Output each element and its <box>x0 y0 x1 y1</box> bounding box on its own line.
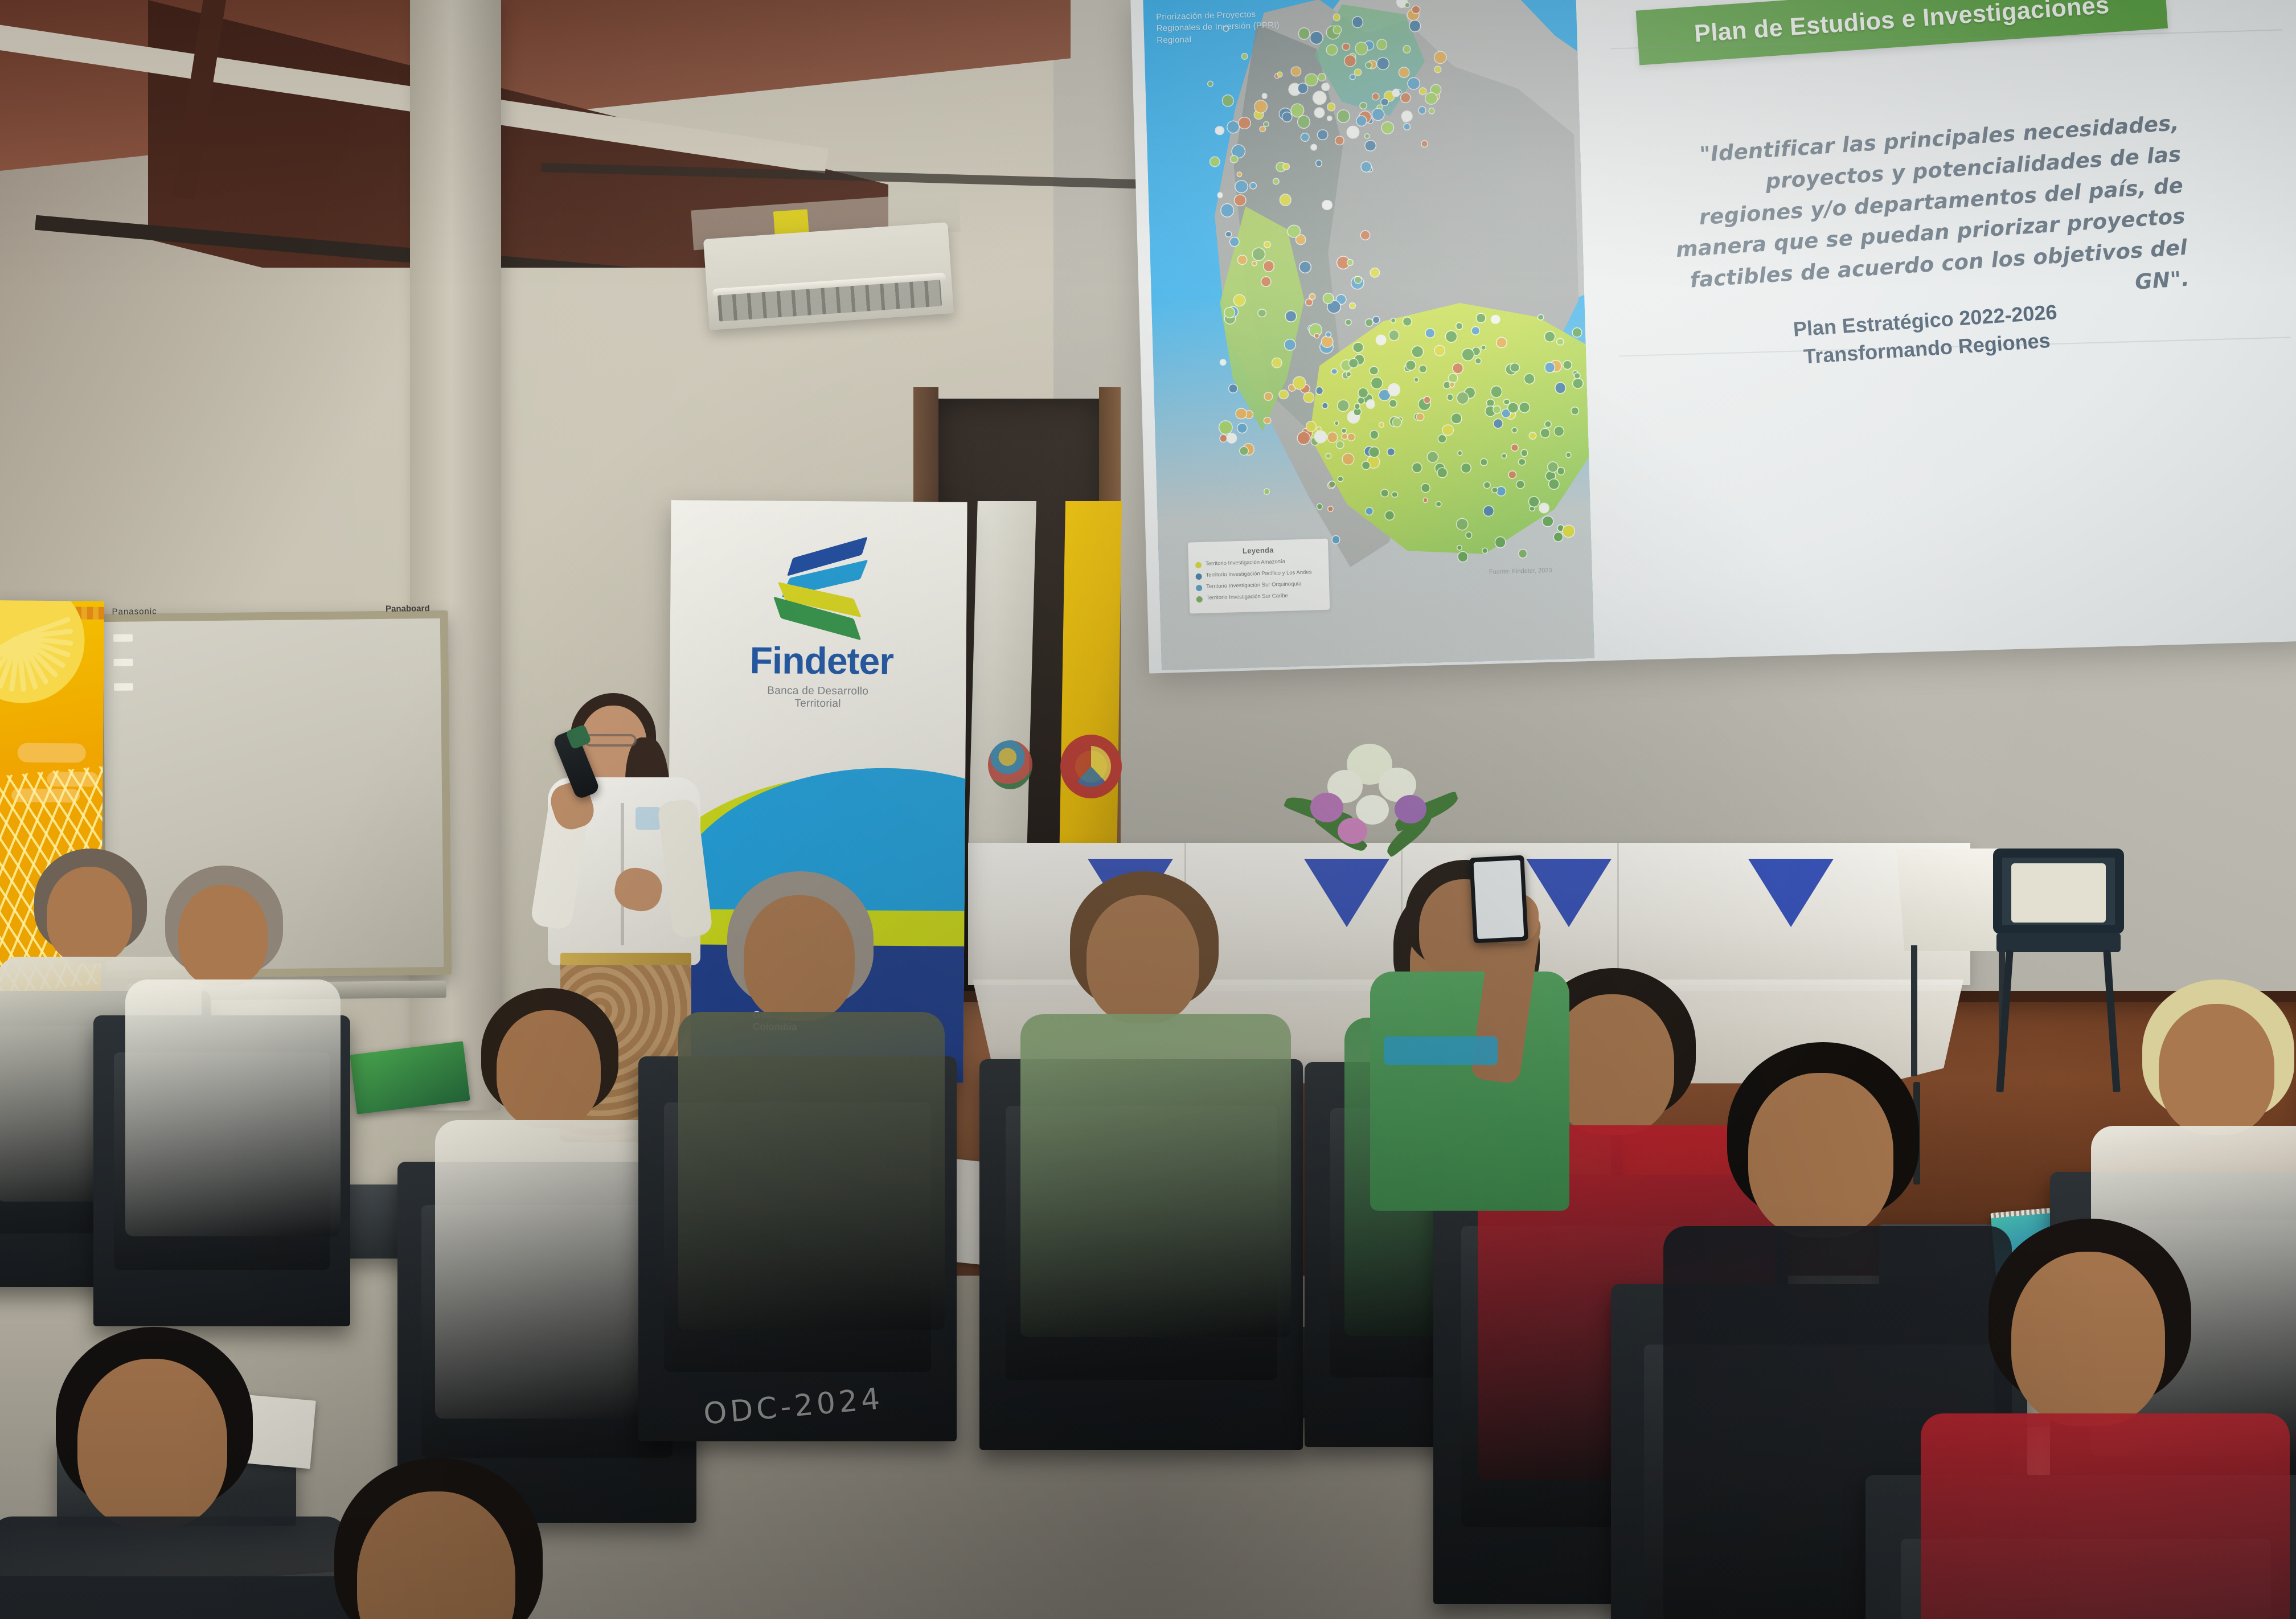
map-marker <box>1350 75 1355 79</box>
map-marker <box>1379 423 1384 427</box>
map-marker <box>1566 453 1571 457</box>
scene-root: Priorización de Proyectos Regionales de … <box>0 0 2296 1619</box>
attendee-head <box>2159 1004 2274 1135</box>
map-marker <box>1381 490 1388 497</box>
map-marker <box>1493 406 1500 413</box>
attendee-head <box>744 895 855 1021</box>
map-marker <box>1327 45 1337 55</box>
attendee-head <box>497 1010 601 1128</box>
map-marker <box>1220 435 1227 442</box>
map-marker <box>1511 363 1519 372</box>
map-marker <box>1285 340 1295 350</box>
map-marker <box>1530 506 1534 511</box>
map-marker <box>1347 433 1355 441</box>
map-marker <box>1265 392 1272 400</box>
map-marker <box>1219 421 1232 434</box>
attendee-head <box>178 885 268 987</box>
map-marker <box>1301 133 1309 141</box>
map-marker <box>1452 413 1461 423</box>
map-marker <box>1369 447 1379 457</box>
map-marker <box>1254 100 1267 113</box>
map-marker <box>1466 532 1471 538</box>
map-marker <box>1280 390 1288 399</box>
map-legend: Leyenda Territorio Investigación Amazoní… <box>1188 539 1330 614</box>
legend-color-dot <box>1195 562 1202 568</box>
map-marker <box>1472 327 1479 334</box>
map-marker <box>1425 329 1434 337</box>
map-marker <box>1557 525 1563 531</box>
legend-color-dot <box>1196 596 1203 602</box>
map-marker <box>1218 193 1223 198</box>
eyeglasses-icon <box>584 734 637 747</box>
mural-sun-rays <box>0 600 93 709</box>
map-marker <box>1223 95 1233 106</box>
photographer-shirt <box>1370 972 1569 1211</box>
map-marker <box>1328 506 1332 511</box>
map-marker <box>1350 303 1355 308</box>
attendee-olive-jacket <box>661 871 971 1315</box>
map-marker <box>1291 104 1303 117</box>
attendee-green-stripe <box>1002 871 1318 1322</box>
map-marker <box>1250 183 1256 188</box>
map-marker <box>1493 487 1497 492</box>
map-marker <box>1231 156 1237 163</box>
map-marker <box>1403 317 1411 325</box>
map-marker <box>1322 83 1329 90</box>
map-marker <box>1346 319 1351 325</box>
findeter-tagline: Banca de Desarrollo Territorial <box>749 685 886 711</box>
map-marker <box>1296 235 1305 244</box>
lanyard <box>1384 1036 1498 1065</box>
map-marker <box>1318 73 1325 80</box>
map-marker <box>1402 111 1412 121</box>
map-marker <box>1420 88 1426 95</box>
map-marker <box>1349 359 1358 367</box>
map-marker <box>1450 383 1454 387</box>
map-marker <box>1557 468 1564 474</box>
map-marker <box>1344 55 1355 66</box>
shirt-logo-patch <box>635 807 661 830</box>
attendee-grey-hair <box>111 866 362 1224</box>
map-marker <box>1313 91 1326 104</box>
map-marker <box>1557 339 1564 345</box>
map-marker <box>1273 179 1278 184</box>
slide-title-banner: Plan de Estudios e Investigaciones <box>1636 0 2168 65</box>
map-marker <box>1264 261 1274 272</box>
attendee-foreground-center <box>239 1458 682 1619</box>
map-marker <box>1487 400 1494 407</box>
whiteboard-markers <box>113 634 143 708</box>
map-marker <box>1475 359 1481 364</box>
map-marker <box>1242 54 1247 59</box>
map-marker <box>1326 453 1330 458</box>
attendee-torso <box>125 979 341 1237</box>
colombia-flag <box>1059 501 1122 866</box>
legend-title: Leyenda <box>1195 544 1321 556</box>
map-marker <box>1496 337 1507 347</box>
map-marker <box>1404 124 1409 130</box>
map-marker <box>1323 294 1333 304</box>
map-marker <box>1358 397 1364 404</box>
map-marker <box>1453 363 1463 373</box>
map-marker <box>1286 311 1296 321</box>
map-marker <box>1491 315 1499 323</box>
attendee-torso <box>678 1012 945 1330</box>
map-marker <box>1235 181 1247 192</box>
map-marker <box>1358 388 1368 397</box>
map-marker <box>1342 434 1347 439</box>
map-marker <box>1252 248 1265 261</box>
map-marker <box>1332 369 1337 374</box>
map-marker <box>1361 162 1371 172</box>
municipal-flag-crest <box>988 740 1032 789</box>
map-marker <box>1393 89 1400 96</box>
map-marker <box>1316 161 1322 166</box>
map-marker <box>1462 349 1474 360</box>
legend-color-dot <box>1196 585 1202 591</box>
map-marker <box>1282 112 1291 121</box>
map-marker <box>1225 308 1235 317</box>
map-marker <box>1401 93 1410 102</box>
map-marker <box>1216 126 1223 134</box>
map-marker <box>1370 367 1377 374</box>
map-marker <box>1409 21 1420 31</box>
legend-label: Territorio Investigación Sur Orquinoquía <box>1206 581 1302 591</box>
chair-cushion <box>2011 863 2106 923</box>
legend-label: Territorio Investigación Amazonía <box>1206 559 1285 568</box>
map-marker <box>1477 314 1485 322</box>
map-marker <box>1545 363 1555 372</box>
attendee-photographer <box>1350 849 1589 1281</box>
map-marker <box>1372 93 1379 100</box>
map-marker <box>1365 141 1375 151</box>
map-marker <box>1334 26 1342 34</box>
map-header: Priorización de Proyectos Regionales de … <box>1156 7 1328 46</box>
air-conditioner <box>703 222 954 330</box>
map-marker <box>1495 537 1506 547</box>
attendee-head <box>2011 1252 2165 1426</box>
map-marker <box>1545 331 1555 341</box>
map-marker <box>1516 481 1524 489</box>
attendee-head <box>1748 1073 1893 1237</box>
map-marker <box>1208 81 1213 86</box>
map-marker <box>1220 359 1225 364</box>
map-marker <box>1240 447 1248 455</box>
map-marker <box>1347 372 1351 376</box>
map-marker <box>1508 403 1518 412</box>
map-marker <box>1438 435 1446 442</box>
map-marker <box>1444 382 1450 388</box>
map-marker <box>1422 484 1430 492</box>
map-marker <box>1342 428 1346 432</box>
map-marker <box>1371 268 1379 277</box>
map-marker <box>1366 507 1373 515</box>
map-marker <box>1355 69 1361 75</box>
map-marker <box>1575 374 1580 379</box>
map-marker <box>1391 318 1395 322</box>
map-marker <box>1529 497 1539 506</box>
findeter-logo: Findeter Banca de Desarrollo Territorial <box>749 545 887 711</box>
attendee-head <box>77 1359 227 1528</box>
map-marker <box>1310 31 1323 44</box>
legend-item: Territorio Investigación Amazonía <box>1195 558 1322 568</box>
map-marker <box>1412 6 1419 13</box>
legend-color-dot <box>1196 573 1202 580</box>
map-marker <box>1317 427 1321 431</box>
map-marker <box>1573 379 1583 388</box>
projection-screen: Priorización de Proyectos Regionales de … <box>1130 0 2296 674</box>
map-marker <box>1457 392 1468 404</box>
findeter-wordmark: Findeter <box>749 641 886 680</box>
municipal-flag <box>968 501 1036 854</box>
map-marker <box>1481 459 1487 465</box>
attendee-red-right <box>1896 1219 2296 1619</box>
findeter-logo-mark-icon <box>776 545 862 634</box>
whiteboard-brand-label: Panasonic <box>112 606 157 617</box>
map-marker <box>1264 122 1268 126</box>
map-marker <box>1456 323 1462 329</box>
legend-item: Territorio Investigación Pacífico y Los … <box>1195 569 1322 580</box>
map-marker <box>1304 393 1314 403</box>
map-marker <box>1485 482 1490 488</box>
map-marker <box>1261 277 1270 286</box>
whiteboard-model-label: Panaboard <box>386 604 430 614</box>
map-marker <box>1554 427 1563 436</box>
attendee-head <box>1086 895 1199 1023</box>
map-marker <box>1354 342 1363 352</box>
map-marker <box>1258 309 1266 317</box>
map-marker <box>1297 432 1309 444</box>
map-marker <box>1405 3 1409 7</box>
map-marker <box>1519 402 1530 412</box>
map-marker <box>1377 58 1388 69</box>
map-marker <box>1264 489 1269 494</box>
attendee-torso <box>1020 1014 1291 1338</box>
legend-label: Territorio Investigación Sur Caribe <box>1207 593 1288 602</box>
legend-item: Territorio Investigación Sur Caribe <box>1196 592 1323 602</box>
map-marker <box>1458 451 1462 455</box>
legend-label: Territorio Investigación Pacífico y Los … <box>1206 569 1311 579</box>
map-marker <box>1412 346 1422 357</box>
smartphone-camera[interactable] <box>1469 855 1528 944</box>
attendee-torso <box>1921 1413 2290 1619</box>
map-marker <box>1356 43 1368 55</box>
map-marker <box>1541 429 1549 437</box>
map-marker <box>1491 387 1502 397</box>
legend-item: Territorio Investigación Sur Orquinoquía <box>1196 580 1322 591</box>
chair-seat <box>1996 933 2121 952</box>
map-marker <box>1435 67 1441 72</box>
map-marker <box>1343 453 1354 464</box>
map-marker <box>1288 225 1300 237</box>
map-marker <box>1354 408 1360 415</box>
map-marker <box>1389 400 1396 407</box>
map-marker <box>1347 260 1352 265</box>
colombia-flag-seal <box>1060 735 1122 798</box>
map-marker <box>1573 328 1581 337</box>
slide-text-column: Plan de Estudios e Investigaciones "Iden… <box>1586 0 2296 658</box>
map-marker <box>1316 387 1323 394</box>
map-marker <box>1438 468 1447 477</box>
map-marker <box>1226 232 1231 237</box>
map-marker <box>1367 400 1375 408</box>
map-marker <box>1543 516 1553 526</box>
colombia-priority-map: Priorización de Proyectos Regionales de … <box>1143 0 1594 670</box>
map-marker <box>1563 526 1574 537</box>
map-marker <box>1458 552 1467 561</box>
map-marker <box>1519 459 1525 465</box>
